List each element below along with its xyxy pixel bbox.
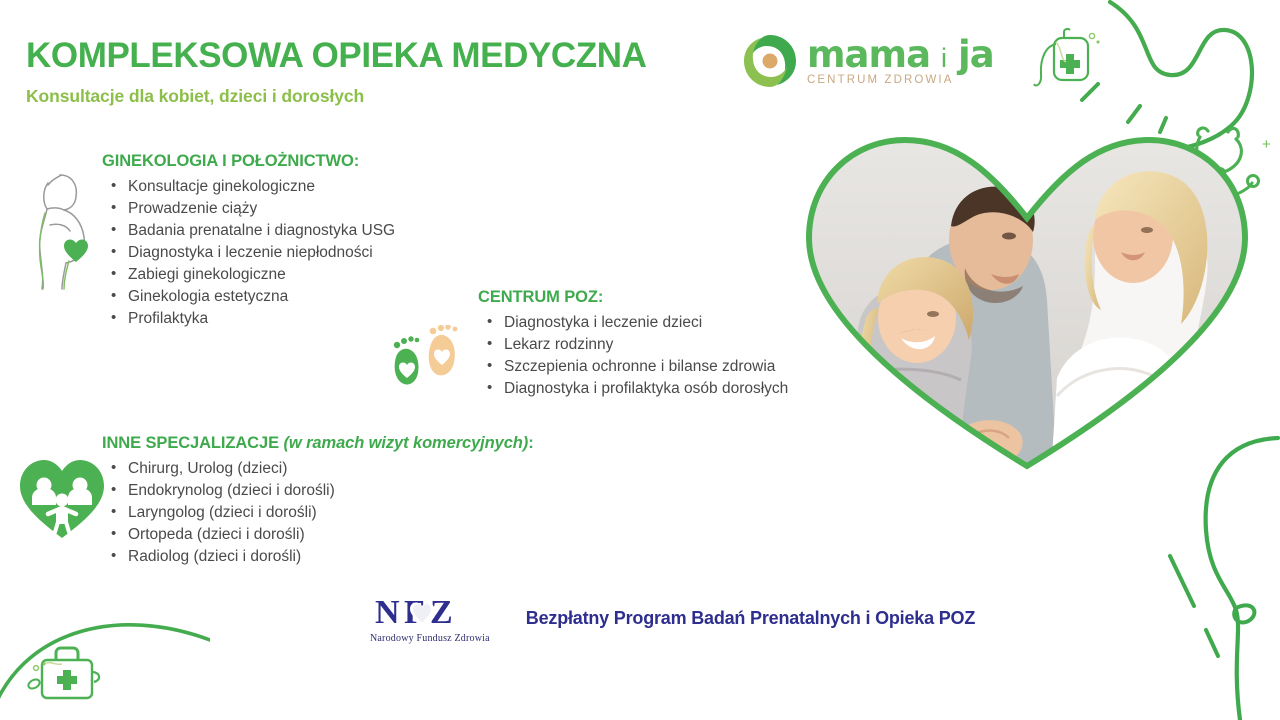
section-heading: CENTRUM POZ:: [478, 288, 788, 307]
list-item: Badania prenatalne i diagnostyka USG: [102, 220, 395, 242]
svg-text:N: N: [375, 594, 400, 631]
list-item: Konsultacje ginekologiczne: [102, 176, 395, 198]
section-centrum-poz: CENTRUM POZ: Diagnostyka i leczenie dzie…: [478, 288, 788, 400]
section-list: Diagnostyka i leczenie dzieci Lekarz rod…: [478, 312, 788, 400]
brand-logo[interactable]: mama i ja CENTRUM ZDROWIA: [742, 33, 994, 89]
list-item: Diagnostyka i profilaktyka osób dorosłyc…: [478, 378, 788, 400]
section-heading-note: (w ramach wizyt komercyjnych): [283, 434, 528, 452]
list-item: Endokrynolog (dzieci i dorośli): [102, 480, 534, 502]
footer-block: N F Z Narodowy Fundusz Zdrowia Bezpłatny…: [370, 592, 975, 644]
list-item: Prowadzenie ciąży: [102, 198, 395, 220]
footer-tagline: Bezpłatny Program Badań Prenatalnych i O…: [526, 608, 975, 629]
list-item: Chirurg, Urolog (dzieci): [102, 458, 534, 480]
svg-text:+: +: [1262, 136, 1271, 153]
list-item: Ginekologia estetyczna: [102, 286, 395, 308]
first-aid-kit-icon: [22, 634, 108, 712]
section-heading-suffix: :: [528, 434, 533, 452]
section-ginekologia: GINEKOLOGIA I POŁOŻNICTWO: Konsultacje g…: [102, 152, 395, 330]
heart-framed-photo: [795, 128, 1260, 473]
nfz-logo: N F Z Narodowy Fundusz Zdrowia: [370, 592, 490, 644]
list-item: Zabiegi ginekologiczne: [102, 264, 395, 286]
iv-drip-bag-icon: [1032, 22, 1102, 100]
page-subtitle: Konsultacje dla kobiet, dzieci i dorosły…: [26, 86, 647, 107]
list-item: Diagnostyka i leczenie niepłodności: [102, 242, 395, 264]
section-list: Konsultacje ginekologiczne Prowadzenie c…: [102, 176, 395, 330]
logo-swirl-icon: [742, 33, 798, 89]
list-item: Lekarz rodzinny: [478, 334, 788, 356]
logo-separator: i: [941, 45, 947, 72]
list-item: Radiolog (dzieci i dorośli): [102, 546, 534, 568]
section-inne-specjalizacje: INNE SPECJALIZACJE (w ramach wizyt komer…: [102, 434, 534, 568]
svg-text:Z: Z: [430, 594, 453, 631]
decorative-swoosh-bottom-right: [1110, 430, 1280, 720]
section-heading-main: INNE SPECJALIZACJE: [102, 434, 283, 452]
decorative-arc-bottom-left: [0, 600, 210, 720]
baby-footprints-icon: [386, 325, 472, 393]
list-item: Profilaktyka: [102, 308, 395, 330]
list-item: Diagnostyka i leczenie dzieci: [478, 312, 788, 334]
logo-tagline: CENTRUM ZDROWIA: [807, 75, 994, 87]
list-item: Szczepienia ochronne i bilanse zdrowia: [478, 356, 788, 378]
pregnant-woman-icon: [14, 165, 106, 290]
list-item: Laryngolog (dzieci i dorośli): [102, 502, 534, 524]
poster-canvas: + +: [0, 0, 1280, 720]
logo-name-mama: mama: [807, 36, 930, 73]
family-photo-heart: [795, 128, 1260, 473]
page-title: KOMPLEKSOWA OPIEKA MEDYCZNA: [26, 38, 647, 75]
list-item: Ortopeda (dzieci i dorośli): [102, 524, 534, 546]
section-heading: INNE SPECJALIZACJE (w ramach wizyt komer…: [102, 434, 534, 453]
logo-name-ja: ja: [958, 36, 994, 73]
section-list: Chirurg, Urolog (dzieci) Endokrynolog (d…: [102, 458, 534, 568]
nfz-subtitle: Narodowy Fundusz Zdrowia: [370, 633, 490, 644]
nfz-wordmark-icon: N F Z: [374, 592, 486, 632]
family-heart-icon: [18, 458, 106, 540]
header-block: KOMPLEKSOWA OPIEKA MEDYCZNA Konsultacje …: [26, 38, 647, 107]
section-heading: GINEKOLOGIA I POŁOŻNICTWO:: [102, 152, 395, 171]
